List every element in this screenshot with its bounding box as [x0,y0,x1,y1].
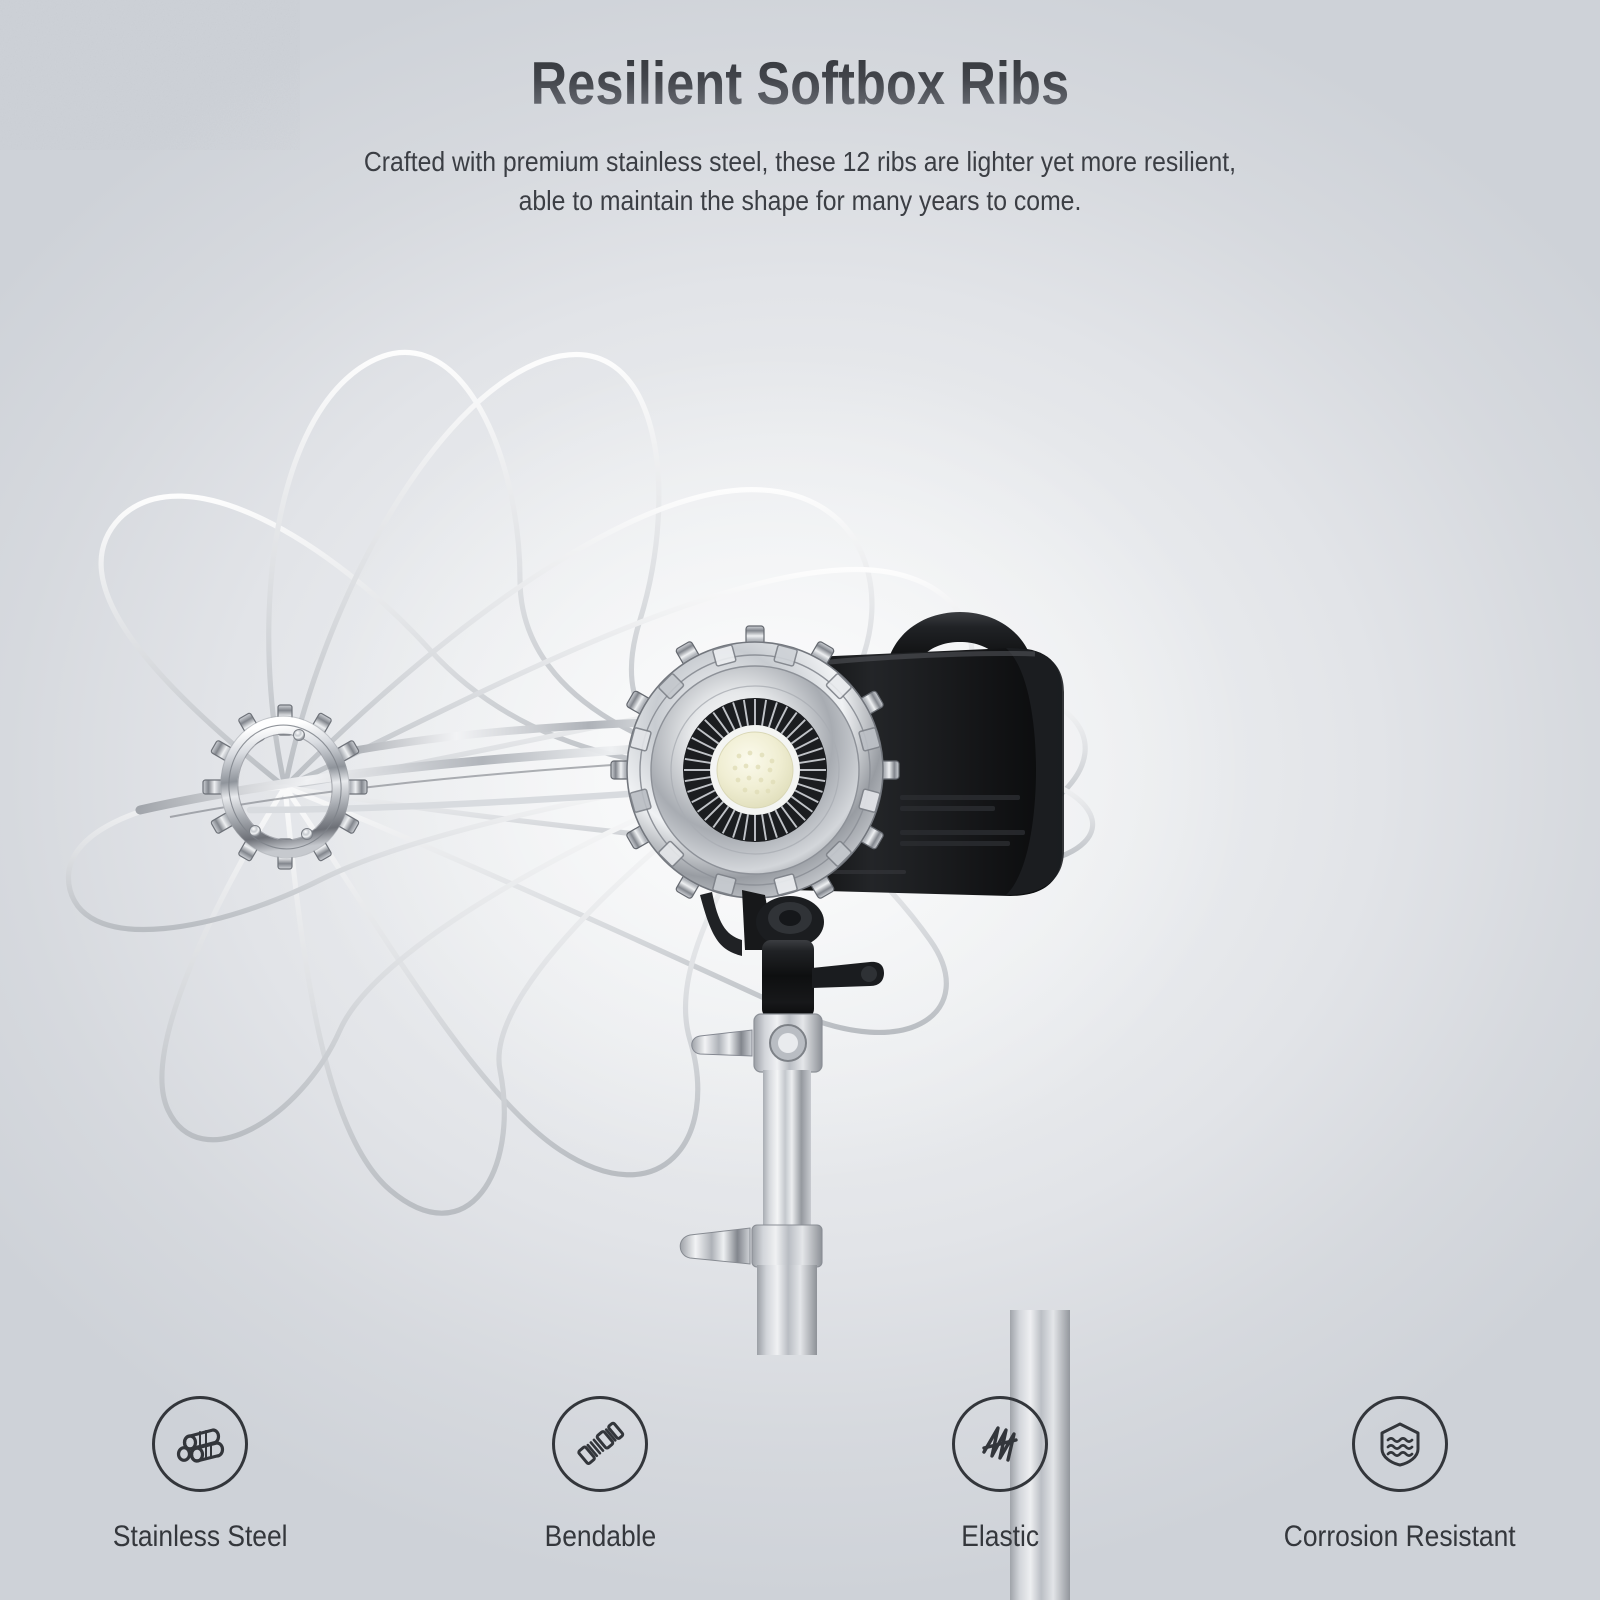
header: Resilient Softbox Ribs Crafted with prem… [0,0,1600,220]
feature-label: Corrosion Resistant [1284,1520,1516,1554]
feature-label: Stainless Steel [113,1520,288,1554]
product-feature-page: Resilient Softbox Ribs Crafted with prem… [0,0,1600,1600]
shield-waves-icon [1352,1396,1448,1492]
feature-label: Elastic [961,1520,1039,1554]
bendable-rod-icon [552,1396,648,1492]
page-subtitle: Crafted with premium stainless steel, th… [80,142,1520,220]
feature-elastic: Elastic [800,1396,1200,1554]
product-photo [0,250,1600,1350]
feature-label: Bendable [544,1520,656,1554]
page-title: Resilient Softbox Ribs [128,52,1472,116]
steel-bars-icon [152,1396,248,1492]
feature-bendable: Bendable [400,1396,800,1554]
feature-stainless-steel: Stainless Steel [0,1396,400,1554]
feature-corrosion-resistant: Corrosion Resistant [1200,1396,1600,1554]
feature-list: Stainless Steel [0,1396,1600,1554]
spring-zigzag-icon [952,1396,1048,1492]
